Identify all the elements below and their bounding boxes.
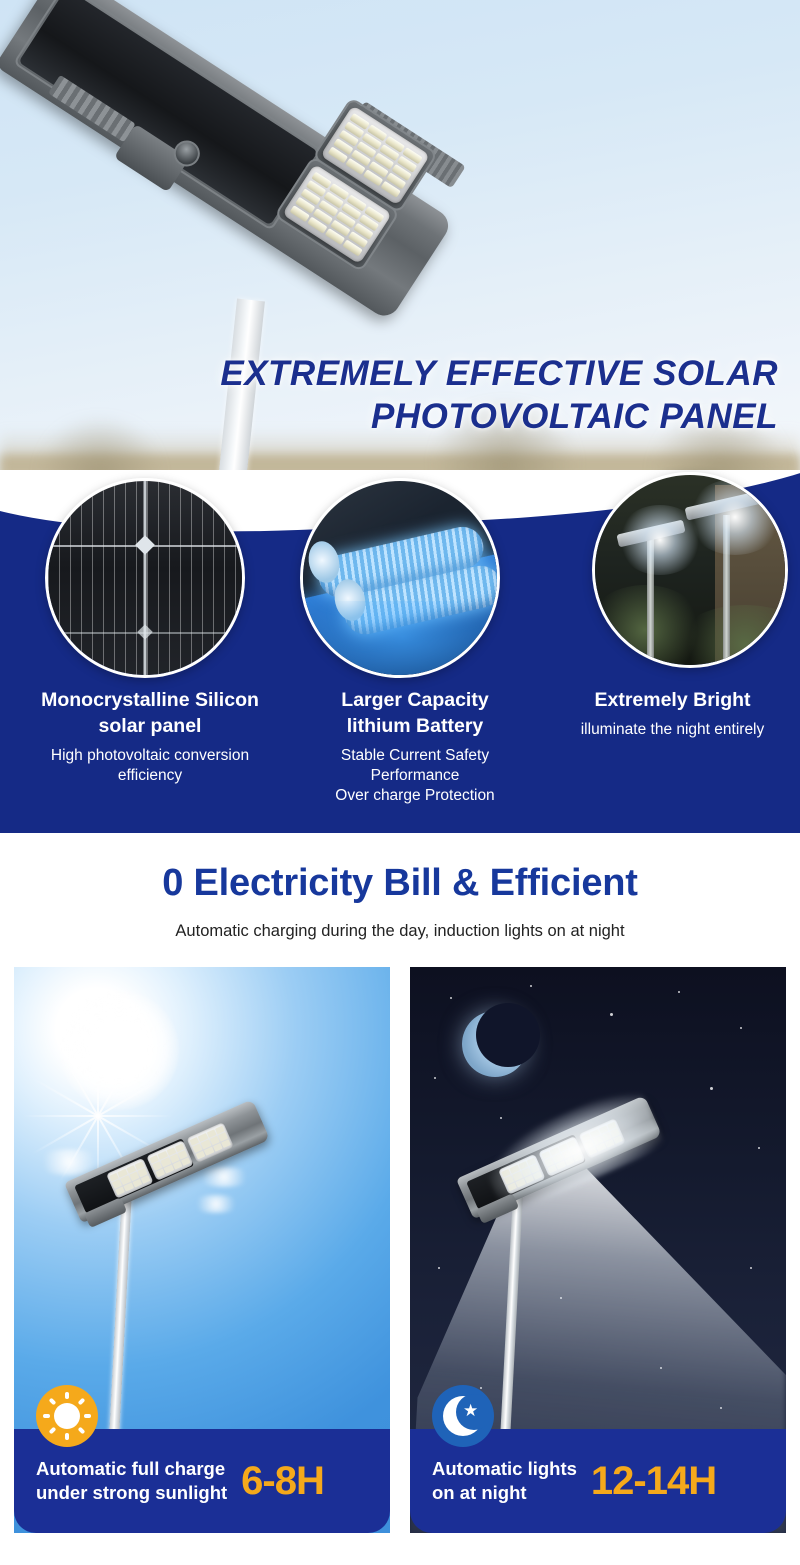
feature-title-2: Larger Capacity lithium Battery [290, 688, 540, 740]
feature-subtitle-1: High photovoltaic conversion efficiency [0, 746, 300, 786]
feature-title-line: lithium Battery [290, 714, 540, 740]
busbar [144, 481, 147, 675]
feature-caption-1: Monocrystalline Silicon solar panel High… [0, 688, 300, 786]
feature-caption-2: Larger Capacity lithium Battery Stable C… [290, 688, 540, 806]
sun-ray [43, 1414, 50, 1418]
night-caption-bar: ★ Automatic lights on at night 12-14H [410, 1429, 786, 1533]
moon-disc: ★ [443, 1396, 483, 1436]
hero-headline-line2: PHOTOVOLTAIC PANEL [0, 395, 778, 438]
moon-star-icon: ★ [432, 1385, 494, 1447]
light-flare [687, 479, 783, 555]
feature-image-lithium-battery [300, 478, 500, 678]
monocrystalline-solar-panel-icon [48, 481, 242, 675]
day-caption-line: under strong sunlight [36, 1481, 227, 1505]
night-caption-text: Automatic lights on at night [410, 1457, 577, 1504]
busbar-node [135, 535, 155, 555]
sun-ray [65, 1392, 69, 1399]
sun-disc [54, 1403, 80, 1429]
efficiency-panel-day: Automatic full charge under strong sunli… [14, 967, 390, 1533]
night-hours-badge: 12-14H [577, 1459, 716, 1504]
feature-caption-3: Extremely Bright illuminate the night en… [545, 688, 800, 740]
feature-title-line: Larger Capacity [290, 688, 540, 714]
day-caption-line: Automatic full charge [36, 1457, 227, 1481]
lithium-battery-icon [303, 481, 497, 675]
sun-ray [65, 1433, 69, 1440]
feature-subtitle-2: Stable Current Safety Performance Over c… [290, 746, 540, 806]
sun-icon [36, 1385, 98, 1447]
cloud-icon [190, 1195, 242, 1213]
moon-shadow [476, 1003, 540, 1067]
sun-ray [49, 1427, 57, 1435]
day-caption-text: Automatic full charge under strong sunli… [14, 1457, 227, 1504]
night-caption-line: on at night [432, 1481, 577, 1505]
feature-image-extremely-bright [592, 472, 788, 668]
feature-subtitle-3: illuminate the night entirely [545, 720, 800, 740]
night-caption-line: Automatic lights [432, 1457, 577, 1481]
hero-banner: EXTREMELY EFFECTIVE SOLAR PHOTOVOLTAIC P… [0, 0, 800, 500]
day-hours-badge: 6-8H [227, 1459, 324, 1504]
feature-subtitle-line: Over charge Protection [290, 786, 540, 806]
battery-glow [303, 601, 500, 678]
efficiency-panel-night: ★ Automatic lights on at night 12-14H [410, 967, 786, 1533]
sun-ray [78, 1427, 86, 1435]
cloud-icon [194, 1167, 254, 1187]
efficiency-subtitle: Automatic charging during the day, induc… [0, 922, 800, 941]
bright-night-street-light-icon [595, 475, 785, 665]
feature-title-line: Extremely Bright [545, 688, 800, 714]
feature-subtitle-line: efficiency [0, 766, 300, 786]
day-caption-bar: Automatic full charge under strong sunli… [14, 1429, 390, 1533]
feature-subtitle-line: High photovoltaic conversion [0, 746, 300, 766]
feature-subtitle-line: Stable Current Safety [290, 746, 540, 766]
hero-headline-line1: EXTREMELY EFFECTIVE SOLAR [0, 352, 778, 395]
feature-title-line: solar panel [0, 714, 300, 740]
sun-ray [78, 1398, 86, 1406]
feature-title-1: Monocrystalline Silicon solar panel [0, 688, 300, 740]
busbar-node [137, 625, 153, 641]
sun-ray [49, 1398, 57, 1406]
feature-title-3: Extremely Bright [545, 688, 800, 714]
sun-icon [59, 990, 179, 1110]
star-icon: ★ [463, 1402, 478, 1419]
feature-title-line: Monocrystalline Silicon [0, 688, 300, 714]
feature-image-monocrystalline-solar-panel [45, 478, 245, 678]
feature-subtitle-line: illuminate the night entirely [545, 720, 800, 740]
efficiency-title: 0 Electricity Bill & Efficient [0, 862, 800, 905]
hero-headline: EXTREMELY EFFECTIVE SOLAR PHOTOVOLTAIC P… [0, 352, 800, 439]
feature-subtitle-line: Performance [290, 766, 540, 786]
sun-ray [84, 1414, 91, 1418]
